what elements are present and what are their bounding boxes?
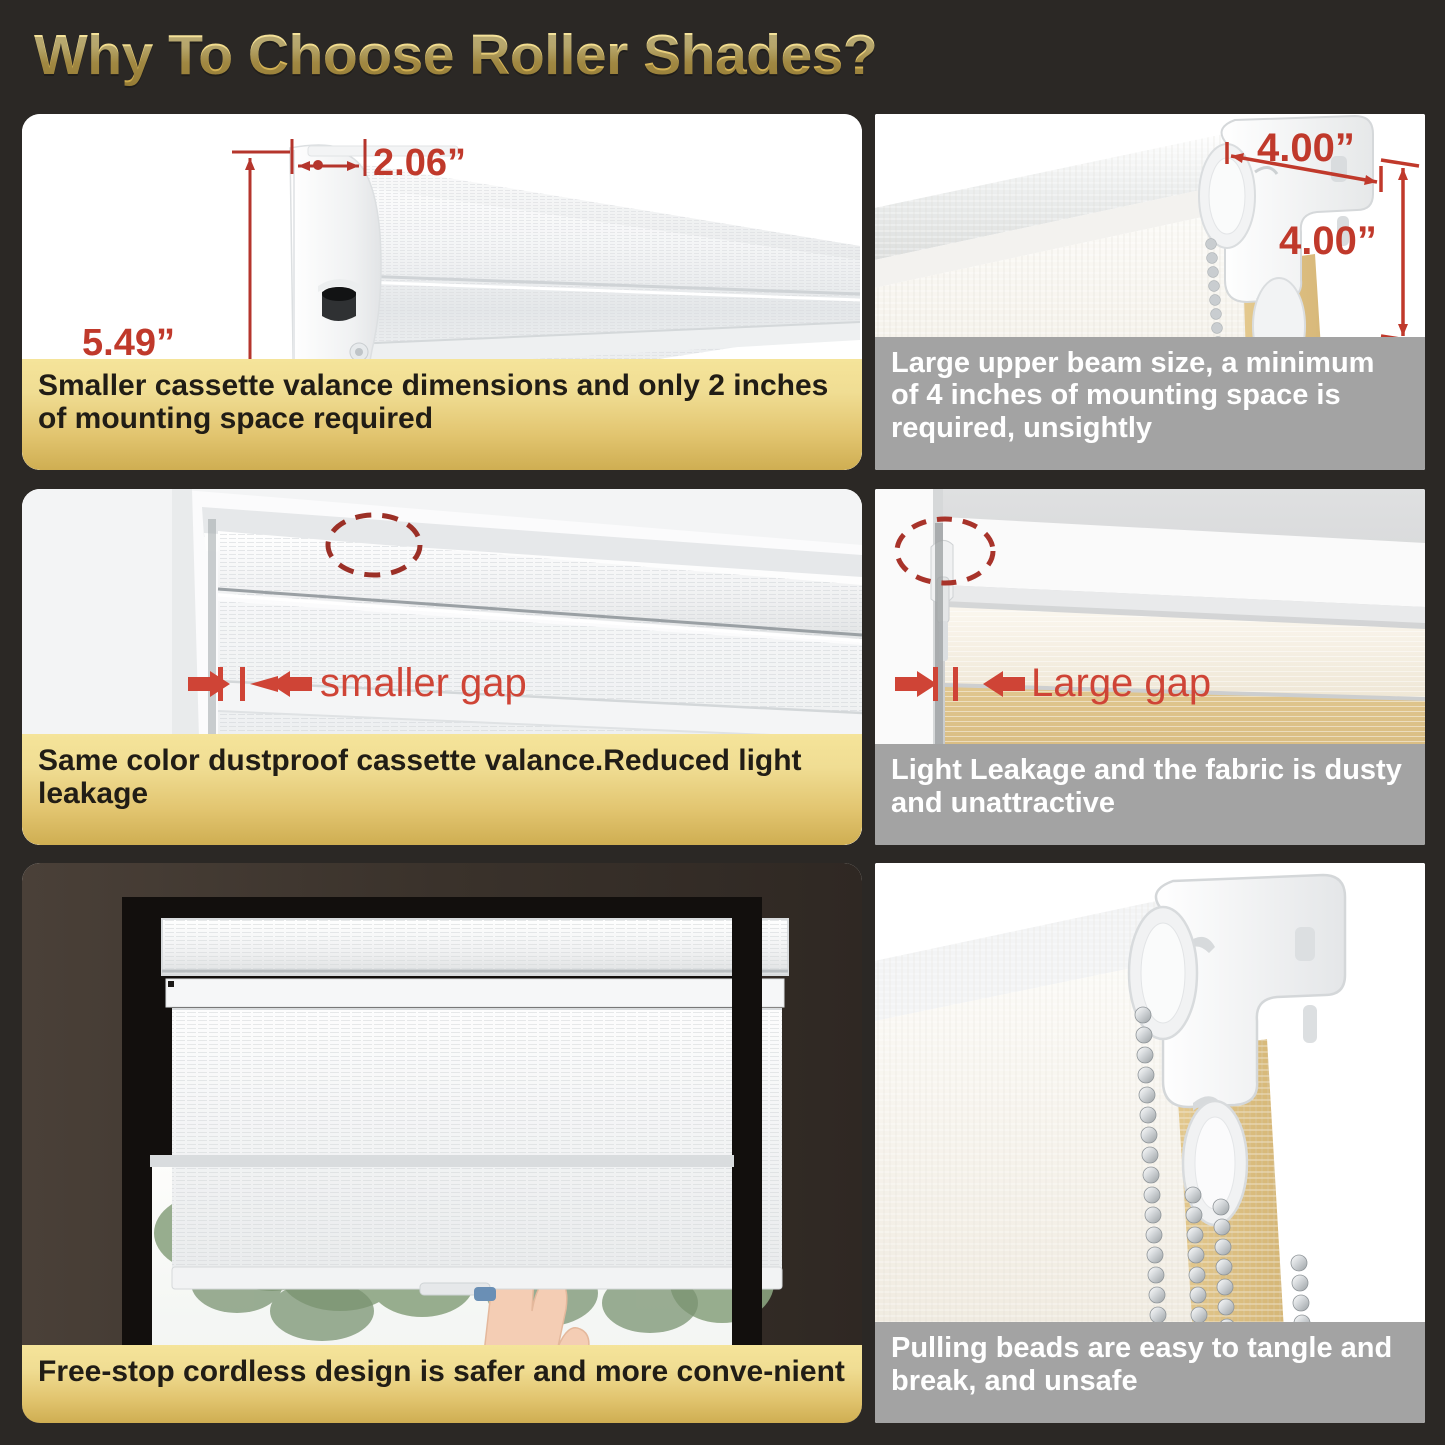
caption-pulling-beads: Pulling beads are easy to tangle and bre… (875, 1322, 1425, 1423)
dimension-label-2-06: 2.06” (373, 142, 466, 185)
highlight-dashed-ellipse (328, 515, 420, 575)
panel-dustproof-cassette-valance: smaller gap Same color dustproof cassett… (22, 489, 862, 845)
dimension-label-beam-width: 4.00” (1257, 126, 1355, 171)
caption-free-stop-cordless: Free-stop cordless design is safer and m… (22, 1345, 862, 1423)
photo-cordless-window (22, 863, 862, 1423)
panel-cassette-valance-dimensions: 2.06” 5.49” Smaller cassette valance dim… (22, 114, 862, 470)
caption-light-leakage: Light Leakage and the fabric is dusty an… (875, 744, 1425, 845)
panel-free-stop-cordless: Free-stop cordless design is safer and m… (22, 863, 862, 1423)
caption-large-upper-beam: Large upper beam size, a minimum of 4 in… (875, 337, 1425, 470)
dimension-label-beam-height: 4.00” (1279, 219, 1377, 264)
caption-cassette-valance-dimensions: Smaller cassette valance dimensions and … (22, 359, 862, 470)
page-title: Why To Choose Roller Shades? (34, 22, 877, 88)
panel-light-leakage: Large gap Light Leakage and the fabric i… (875, 489, 1425, 845)
infographic-page: Why To Choose Roller Shades? (0, 0, 1445, 1445)
caption-dustproof-cassette-valance: Same color dustproof cassette valance.Re… (22, 734, 862, 845)
annotation-smaller-gap: smaller gap (320, 661, 527, 706)
panel-large-upper-beam: 4.00” 4.00” Large upper beam size, a min… (875, 114, 1425, 470)
highlight-dashed-ellipse (897, 519, 993, 583)
panel-pulling-beads: Pulling beads are easy to tangle and bre… (875, 863, 1425, 1423)
annotation-large-gap: Large gap (1031, 661, 1211, 706)
